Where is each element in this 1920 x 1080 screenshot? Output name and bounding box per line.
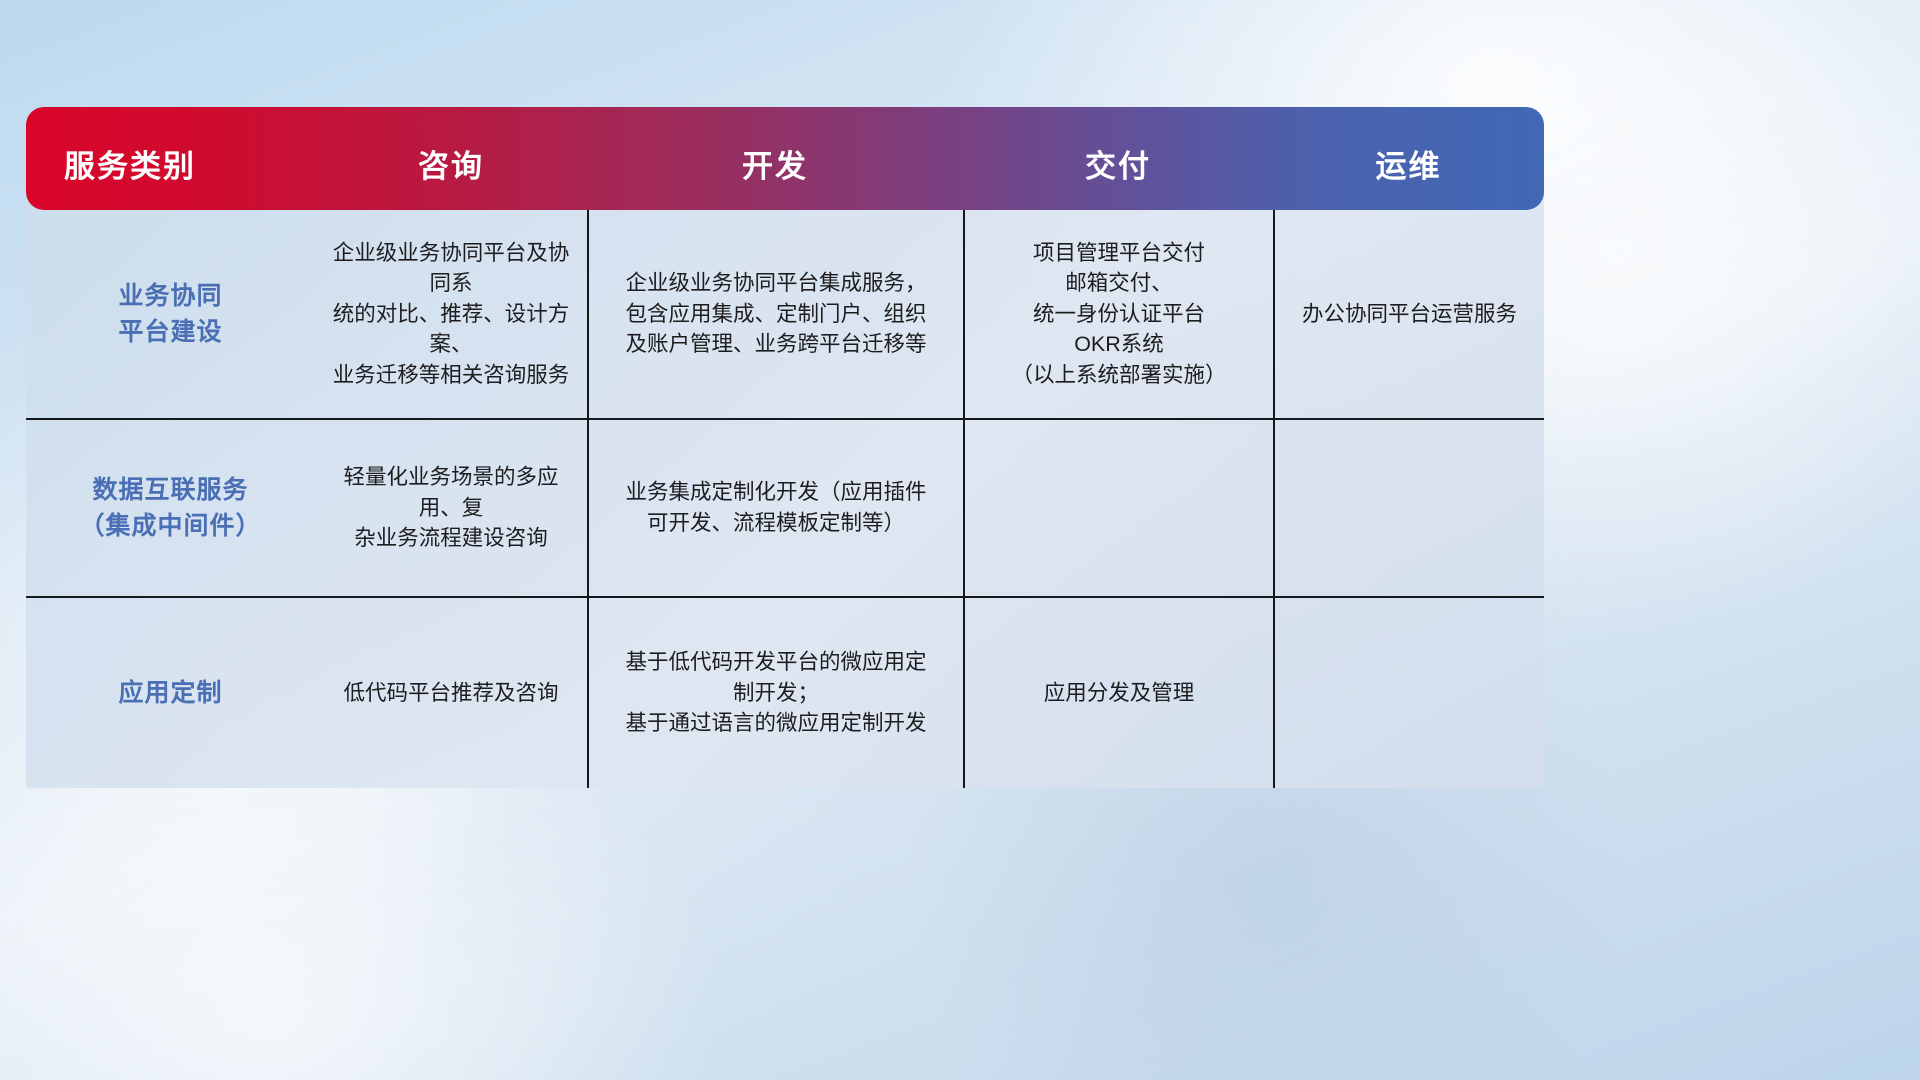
table-row: 应用定制 低代码平台推荐及咨询 基于低代码开发平台的微应用定 制开发； 基于通过… [26,596,1544,788]
cell-development: 企业级业务协同平台集成服务， 包含应用集成、定制门户、组织 及账户管理、业务跨平… [587,210,963,418]
table-header-row: 服务类别 咨询 开发 交付 运维 [26,107,1544,210]
row-label: 应用定制 [26,598,315,788]
table-body: 业务协同 平台建设 企业级业务协同平台及协同系 统的对比、推荐、设计方案、 业务… [26,192,1544,788]
cell-delivery [963,420,1273,596]
cell-operations: 办公协同平台运营服务 [1273,210,1544,418]
column-header-operations: 运维 [1273,107,1544,210]
cell-delivery: 项目管理平台交付 邮箱交付、 统一身份认证平台 OKR系统 （以上系统部署实施） [963,210,1273,418]
column-header-service-category: 服务类别 [26,107,315,210]
column-header-delivery: 交付 [963,107,1273,210]
cell-operations [1273,420,1544,596]
column-header-consulting: 咨询 [315,107,587,210]
cell-development: 基于低代码开发平台的微应用定 制开发； 基于通过语言的微应用定制开发 [587,598,963,788]
cell-delivery: 应用分发及管理 [963,598,1273,788]
table-row: 数据互联服务 （集成中间件） 轻量化业务场景的多应用、复 杂业务流程建设咨询 业… [26,418,1544,596]
cell-consulting: 轻量化业务场景的多应用、复 杂业务流程建设咨询 [315,420,587,596]
cell-development: 业务集成定制化开发（应用插件 可开发、流程模板定制等） [587,420,963,596]
cell-consulting: 低代码平台推荐及咨询 [315,598,587,788]
table-row: 业务协同 平台建设 企业级业务协同平台及协同系 统的对比、推荐、设计方案、 业务… [26,210,1544,418]
cell-operations [1273,598,1544,788]
row-label: 业务协同 平台建设 [26,210,315,418]
service-matrix-table: 服务类别 咨询 开发 交付 运维 业务协同 平台建设 企业级业务协同平台及协同系… [26,107,1544,788]
cell-consulting: 企业级业务协同平台及协同系 统的对比、推荐、设计方案、 业务迁移等相关咨询服务 [315,210,587,418]
row-label: 数据互联服务 （集成中间件） [26,420,315,596]
column-header-development: 开发 [587,107,963,210]
